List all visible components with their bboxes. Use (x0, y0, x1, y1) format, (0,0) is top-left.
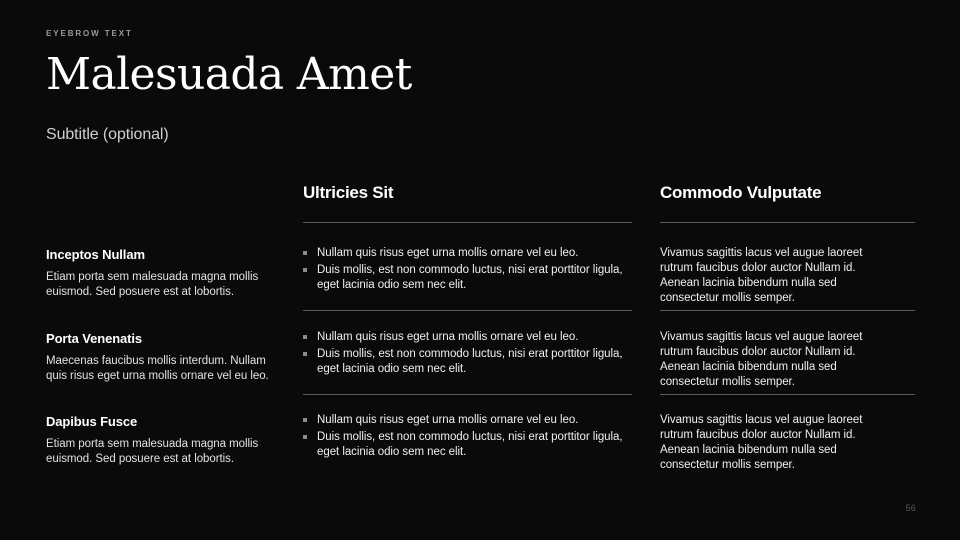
paragraph-line: Vivamus sagittis lacus vel augue laoreet (660, 330, 918, 345)
paragraph-line: consectetur mollis semper. (660, 291, 918, 306)
row-description: Etiam porta sem malesuada magna mollis e… (46, 270, 278, 300)
row-bullets-cell: Nullam quis risus eget urna mollis ornar… (303, 413, 633, 462)
row-divider-2 (303, 310, 632, 311)
row-paragraph: Vivamus sagittis lacus vel augue laoreet… (660, 246, 918, 306)
row-paragraph-cell: Vivamus sagittis lacus vel augue laoreet… (660, 246, 918, 306)
bullet-list: Nullam quis risus eget urna mollis ornar… (303, 246, 633, 293)
list-item: Duis mollis, est non commodo luctus, nis… (303, 347, 633, 377)
list-item-label: Duis mollis, est non commodo luctus, nis… (317, 264, 623, 291)
list-item-label: Nullam quis risus eget urna mollis ornar… (317, 331, 578, 343)
list-item-label: Nullam quis risus eget urna mollis ornar… (317, 414, 578, 426)
page-number: 56 (906, 502, 916, 514)
bullet-square-icon (303, 418, 307, 422)
row-title: Dapibus Fusce (46, 413, 278, 430)
bullet-square-icon (303, 251, 307, 255)
row-label-cell: Inceptos Nullam Etiam porta sem malesuad… (46, 246, 278, 300)
list-item-label: Duis mollis, est non commodo luctus, nis… (317, 431, 623, 458)
paragraph-line: consectetur mollis semper. (660, 458, 918, 473)
row-bullets-cell: Nullam quis risus eget urna mollis ornar… (303, 330, 633, 379)
bullet-list: Nullam quis risus eget urna mollis ornar… (303, 330, 633, 377)
row-paragraph-cell: Vivamus sagittis lacus vel augue laoreet… (660, 330, 918, 390)
paragraph-line: Aenean lacinia bibendum nulla sed (660, 443, 918, 458)
list-item: Duis mollis, est non commodo luctus, nis… (303, 263, 633, 293)
row-paragraph: Vivamus sagittis lacus vel augue laoreet… (660, 330, 918, 390)
bullet-square-icon (303, 352, 307, 356)
paragraph-line: consectetur mollis semper. (660, 375, 918, 390)
paragraph-line: rutrum faucibus dolor auctor Nullam id. (660, 428, 918, 443)
paragraph-line: rutrum faucibus dolor auctor Nullam id. (660, 261, 918, 276)
list-item: Nullam quis risus eget urna mollis ornar… (303, 330, 633, 345)
row-divider-2 (303, 394, 632, 395)
row-paragraph: Vivamus sagittis lacus vel augue laoreet… (660, 413, 918, 473)
bullet-square-icon (303, 335, 307, 339)
paragraph-line: rutrum faucibus dolor auctor Nullam id. (660, 345, 918, 360)
bullet-square-icon (303, 268, 307, 272)
content-rows: Inceptos Nullam Etiam porta sem malesuad… (0, 0, 960, 540)
list-item: Nullam quis risus eget urna mollis ornar… (303, 413, 633, 428)
paragraph-line: Vivamus sagittis lacus vel augue laoreet (660, 413, 918, 428)
row-label-cell: Dapibus Fusce Etiam porta sem malesuada … (46, 413, 278, 467)
paragraph-line: Aenean lacinia bibendum nulla sed (660, 276, 918, 291)
row-title: Inceptos Nullam (46, 246, 278, 263)
list-item: Duis mollis, est non commodo luctus, nis… (303, 430, 633, 460)
row-divider-3 (660, 394, 915, 395)
bullet-list: Nullam quis risus eget urna mollis ornar… (303, 413, 633, 460)
list-item: Nullam quis risus eget urna mollis ornar… (303, 246, 633, 261)
row-description: Maecenas faucibus mollis interdum. Nulla… (46, 354, 278, 384)
row-label-cell: Porta Venenatis Maecenas faucibus mollis… (46, 330, 278, 384)
row-title: Porta Venenatis (46, 330, 278, 347)
list-item-label: Nullam quis risus eget urna mollis ornar… (317, 247, 578, 259)
bullet-square-icon (303, 435, 307, 439)
paragraph-line: Aenean lacinia bibendum nulla sed (660, 360, 918, 375)
slide-canvas: EYEBROW TEXT Malesuada Amet Subtitle (op… (0, 0, 960, 540)
row-description: Etiam porta sem malesuada magna mollis e… (46, 437, 278, 467)
list-item-label: Duis mollis, est non commodo luctus, nis… (317, 348, 623, 375)
paragraph-line: Vivamus sagittis lacus vel augue laoreet (660, 246, 918, 261)
row-paragraph-cell: Vivamus sagittis lacus vel augue laoreet… (660, 413, 918, 473)
row-bullets-cell: Nullam quis risus eget urna mollis ornar… (303, 246, 633, 295)
row-divider-3 (660, 310, 915, 311)
